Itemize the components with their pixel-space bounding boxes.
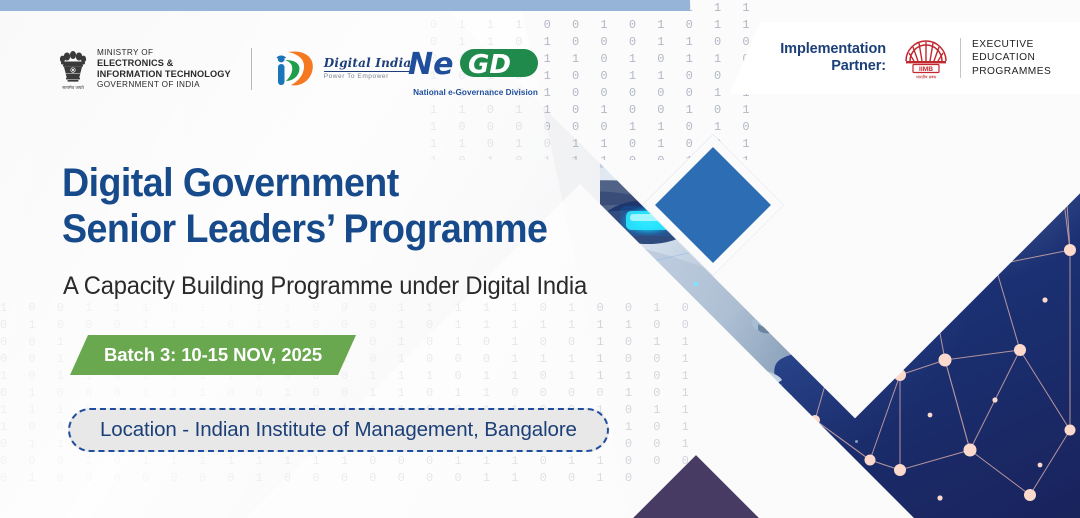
partner-label: Implementation Partner: — [764, 41, 886, 75]
meity-logo: सत्यमेव जयते MINISTRY OF ELECTRONICS & I… — [58, 46, 231, 92]
svg-text:Ne: Ne — [408, 47, 453, 82]
svg-text:सत्यमेव जयते: सत्यमेव जयते — [62, 85, 84, 91]
programme-line-3: PROGRAMMES — [972, 65, 1051, 78]
partner-programme-text: EXECUTIVE EDUCATION PROGRAMMES — [972, 38, 1051, 78]
iimb-logo: IIMB भारतीय प्रबंध — [900, 35, 952, 81]
page-subtitle: A Capacity Building Programme under Digi… — [63, 272, 587, 301]
ministry-line-4: GOVERNMENT OF INDIA — [97, 80, 231, 91]
ministry-line-1: MINISTRY OF — [97, 48, 231, 59]
negd-subtitle: National e-Governance Division — [408, 88, 543, 97]
implementation-partner-card: Implementation Partner: IIMB भारतीय प्रब… — [730, 22, 1080, 94]
meity-text-block: MINISTRY OF ELECTRONICS & INFORMATION TE… — [97, 48, 231, 90]
digital-india-text: Digital India Power To Empower — [324, 57, 412, 81]
ministry-line-3: INFORMATION TECHNOLOGY — [97, 69, 231, 80]
partner-label-line-2: Partner: — [764, 58, 886, 75]
partner-label-line-1: Implementation — [764, 41, 886, 58]
negd-wordmark-icon: Ne GD — [408, 46, 543, 82]
promotional-banner: 0 0 0 1 1 1 0 0 0 1 1 1 0 1 1 1 0 0 1 0 … — [0, 0, 1080, 518]
programme-line-2: EDUCATION — [972, 51, 1051, 64]
digital-india-tagline: Power To Empower — [324, 74, 412, 81]
batch-date-badge: Batch 3: 10-15 NOV, 2025 — [70, 335, 356, 375]
svg-text:IIMB: IIMB — [919, 66, 933, 73]
government-logo-row: सत्यमेव जयते MINISTRY OF ELECTRONICS & I… — [58, 46, 411, 92]
svg-text:भारतीय प्रबंध: भारतीय प्रबंध — [916, 75, 937, 80]
page-title: Digital Government Senior Leaders’ Progr… — [62, 160, 547, 252]
ashoka-lion-capital-emblem: सत्यमेव जयते — [58, 46, 88, 92]
headline-line-1: Digital Government — [62, 160, 547, 206]
digital-india-logo: Digital India Power To Empower — [272, 48, 412, 90]
headline-line-2: Senior Leaders’ Programme — [62, 206, 547, 252]
location-badge: Location - Indian Institute of Managemen… — [68, 408, 609, 452]
svg-text:GD: GD — [468, 50, 511, 80]
digital-india-swoosh-icon — [272, 48, 318, 90]
ministry-line-2: ELECTRONICS & — [97, 58, 231, 69]
logo-divider — [251, 48, 252, 90]
partner-divider — [960, 38, 961, 78]
digital-india-title: Digital India — [324, 57, 412, 72]
programme-line-1: EXECUTIVE — [972, 38, 1051, 51]
top-color-strip — [0, 0, 690, 11]
negd-logo: Ne GD National e-Governance Division — [408, 46, 543, 97]
